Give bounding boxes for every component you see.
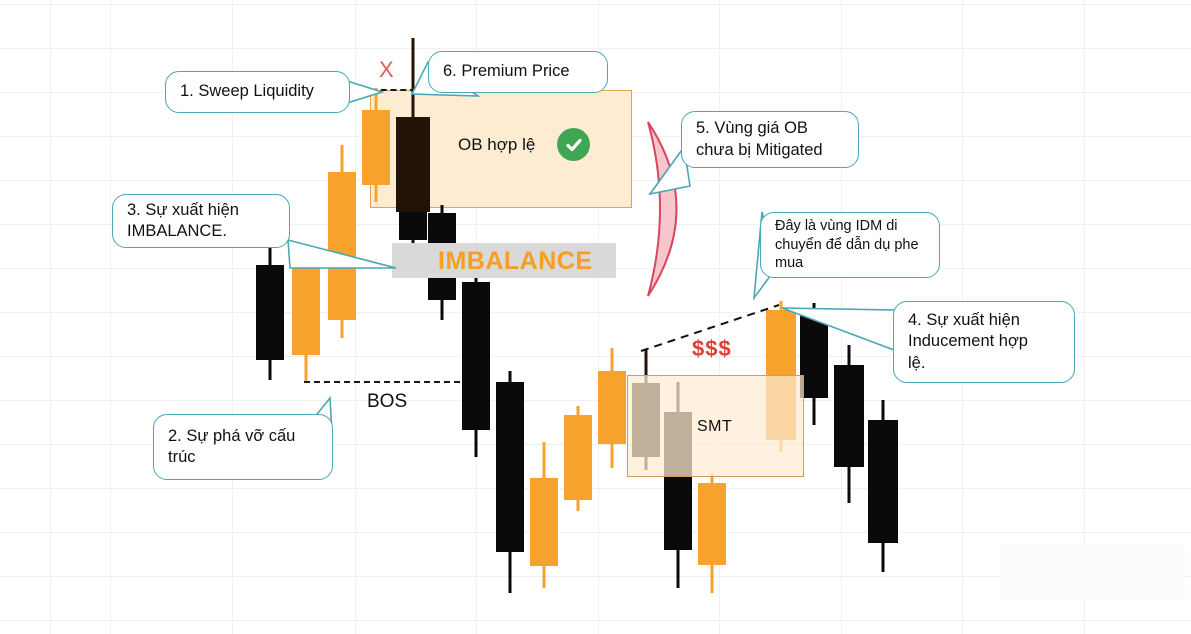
imbalance-label: IMBALANCE: [438, 247, 593, 276]
candle: [868, 400, 898, 572]
callout-idm-note[interactable]: Đây là vùng IDM di chuyển để dẫn dụ phe …: [760, 212, 940, 278]
candle-body: [399, 212, 427, 240]
callout-structure-break[interactable]: 2. Sự phá vỡ cấu trúc: [153, 414, 333, 480]
candle: [396, 38, 430, 232]
candle-body: [868, 420, 898, 543]
chart-canvas: IMBALANCE SMT OB hợp lệ X BOS $$$ 1. Swe…: [0, 0, 1191, 634]
callout-imbalance-note[interactable]: 3. Sự xuất hiện IMBALANCE.: [112, 194, 290, 248]
callout-inducement-text: 4. Sự xuất hiện Inducement hợp lệ.: [908, 310, 1028, 373]
candle-body: [462, 282, 490, 430]
candle: [328, 145, 356, 338]
candle: [834, 345, 864, 503]
ob-valid-label: OB hợp lệ: [458, 135, 535, 155]
candle-body: [530, 478, 558, 566]
callout-idm-note-text: Đây là vùng IDM di chuyển để dẫn dụ phe …: [775, 217, 919, 273]
check-circle-icon: [557, 128, 590, 161]
candle-body: [292, 268, 320, 355]
candle-body: [834, 365, 864, 467]
watermark: [1000, 545, 1185, 600]
callout-imbalance-note-text: 3. Sự xuất hiện IMBALANCE.: [127, 200, 239, 242]
candle-body: [598, 371, 626, 444]
callout-ob-not-mitigated[interactable]: 5. Vùng giá OB chưa bị Mitigated: [681, 111, 859, 168]
candle: [698, 474, 726, 593]
candle: [256, 248, 284, 380]
candle-body: [664, 475, 692, 550]
candle-body: [496, 382, 524, 552]
bos-label: BOS: [367, 391, 407, 413]
callout-ob-not-mitigated-text: 5. Vùng giá OB chưa bị Mitigated: [696, 118, 823, 160]
callout-premium-price-text: 6. Premium Price: [443, 61, 570, 82]
candle-body: [256, 265, 284, 360]
candle: [800, 303, 828, 425]
sweep-x-mark: X: [379, 57, 394, 83]
ob-mitigation-arc: [648, 122, 677, 296]
candle: [292, 251, 320, 381]
candle-body: [564, 415, 592, 500]
liquidity-dollars-label: $$$: [692, 336, 732, 362]
callout-inducement[interactable]: 4. Sự xuất hiện Inducement hợp lệ.: [893, 301, 1075, 383]
candle: [496, 371, 524, 593]
candle: [462, 270, 490, 457]
candle: [598, 348, 626, 468]
candle-body: [328, 172, 356, 320]
candle: [362, 88, 390, 202]
candle: [564, 406, 592, 511]
callout-structure-break-text: 2. Sự phá vỡ cấu trúc: [168, 426, 295, 468]
candle-body: [362, 110, 390, 185]
callout-premium-price[interactable]: 6. Premium Price: [428, 51, 608, 93]
candle: [664, 475, 692, 588]
callout-sweep-liquidity[interactable]: 1. Sweep Liquidity: [165, 71, 350, 113]
callout-sweep-liquidity-text: 1. Sweep Liquidity: [180, 81, 314, 102]
candle-body: [396, 117, 430, 212]
candle-body: [800, 316, 828, 398]
bos-dashed-line: [304, 381, 460, 383]
candle: [530, 442, 558, 588]
smt-label: SMT: [697, 418, 732, 436]
candle-body: [698, 483, 726, 565]
